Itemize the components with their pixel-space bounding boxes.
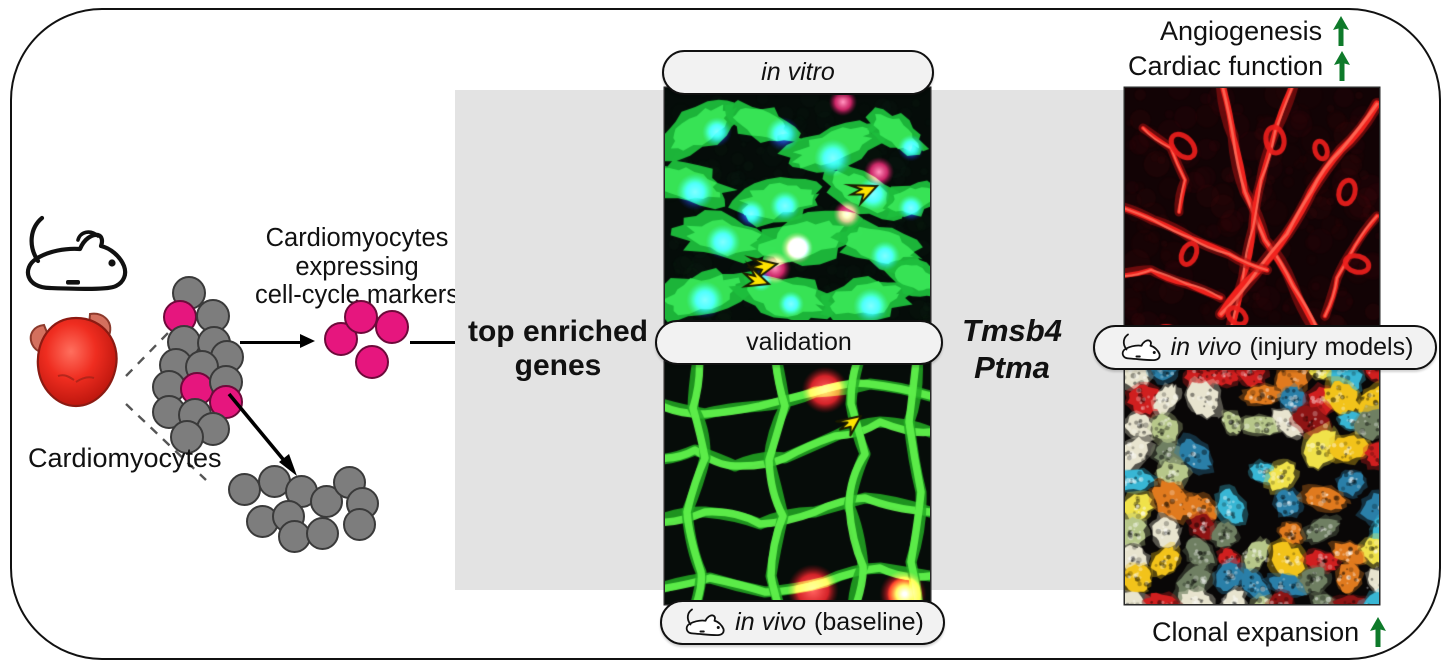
gene-list: Tmsb4 Ptma [962, 313, 1062, 386]
pill-validation-label: validation [746, 328, 852, 357]
up-arrow-icon [1368, 617, 1388, 647]
annotation-angiogenesis-label: Angiogenesis [1160, 16, 1322, 46]
up-arrow-icon [1331, 16, 1351, 46]
label-cycling-cardiomyocytes: Cardiomyocytes expressing cell-cycle mar… [255, 224, 459, 310]
panel-clonal-expansion [1125, 362, 1379, 604]
pill-in-vitro[interactable]: in vitro [662, 50, 934, 95]
mouse-icon [681, 608, 727, 638]
annotation-clonal-expansion-label: Clonal expansion [1152, 617, 1359, 647]
label-top-enriched-genes: top enriched genes [468, 315, 648, 382]
panel-in-vitro [665, 88, 930, 330]
label-line-2: expressing [255, 253, 459, 282]
annotation-clonal-expansion: Clonal expansion [1152, 617, 1388, 647]
annotation-angiogenesis: Angiogenesis [1160, 16, 1351, 46]
label-cardiomyocytes: Cardiomyocytes [28, 443, 222, 473]
pill-validation[interactable]: validation [655, 320, 943, 365]
up-arrow-icon [1332, 51, 1352, 81]
gene-tmsb4: Tmsb4 [962, 313, 1062, 350]
graphical-abstract: Cardiomyocytes Cardiomyocytes expressing… [0, 0, 1453, 669]
panel-angiogenesis [1125, 88, 1379, 330]
gene-ptma: Ptma [962, 350, 1062, 387]
top-enriched-line-2: genes [468, 349, 648, 383]
mouse-icon [1117, 333, 1163, 363]
pill-in-vivo-baseline[interactable]: in vivo (baseline) [660, 600, 945, 645]
pill-in-vitro-label: in vitro [761, 58, 835, 87]
annotation-cardiac-function: Cardiac function [1128, 51, 1352, 81]
pill-in-vivo-injury[interactable]: in vivo (injury models) [1093, 325, 1437, 370]
annotation-cardiac-function-label: Cardiac function [1128, 51, 1323, 81]
pill-in-vivo-baseline-italic: in vivo [735, 608, 806, 637]
panel-in-vivo-baseline [665, 362, 930, 604]
pill-in-vivo-injury-rest: (injury models) [1249, 333, 1413, 362]
pill-in-vivo-injury-italic: in vivo [1171, 333, 1242, 362]
label-line-1: Cardiomyocytes [255, 224, 459, 253]
pill-in-vivo-baseline-rest: (baseline) [814, 608, 924, 637]
top-enriched-line-1: top enriched [468, 315, 648, 349]
